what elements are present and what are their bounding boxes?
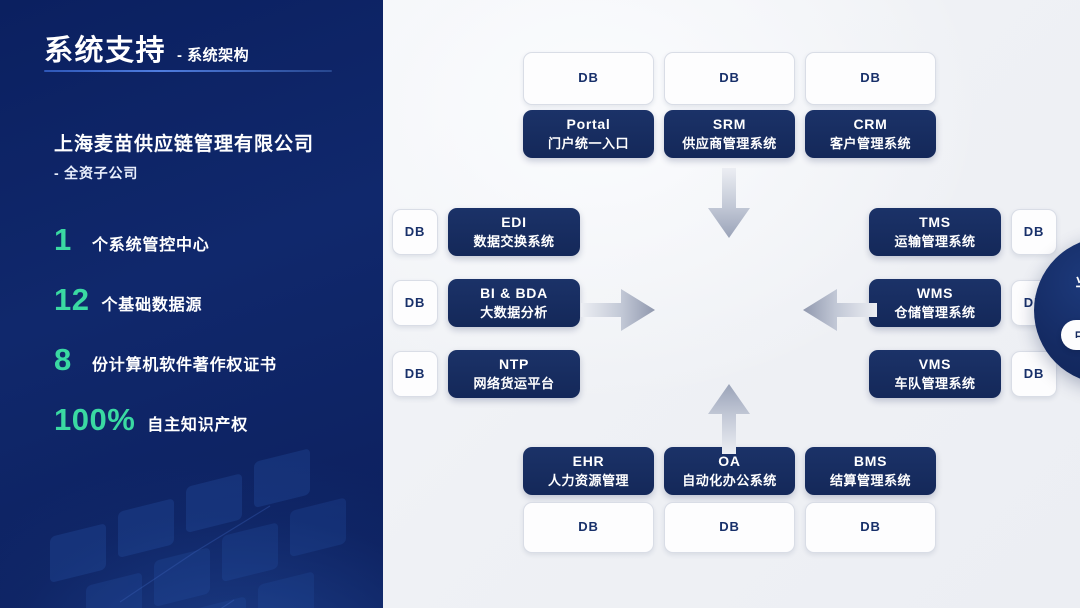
db-card[interactable]: DB [664, 52, 795, 105]
system-card-edi[interactable]: EDI 数据交换系统 [448, 208, 580, 256]
db-card-label: DB [578, 70, 598, 87]
system-card-tms[interactable]: TMS 运输管理系统 [869, 208, 1001, 256]
db-card-label: DB [1024, 366, 1044, 383]
stat-number: 8 [54, 342, 80, 378]
list-item: 8 份计算机软件著作权证书 [54, 342, 354, 402]
stat-label: 份计算机软件著作权证书 [92, 351, 277, 375]
system-card-code: VMS [919, 356, 951, 374]
system-card-name: 运输管理系统 [894, 234, 975, 251]
db-card[interactable]: DB [523, 502, 654, 553]
system-card-name: 门户统一入口 [548, 136, 629, 153]
system-card-vms[interactable]: VMS 车队管理系统 [869, 350, 1001, 398]
db-card-label: DB [405, 295, 425, 312]
db-card[interactable]: DB [1011, 351, 1057, 397]
system-card-bi-bda[interactable]: BI & BDA 大数据分析 [448, 279, 580, 327]
db-card[interactable]: DB [523, 52, 654, 105]
system-card-name: 结算管理系统 [830, 473, 911, 490]
system-card-crm[interactable]: CRM 客户管理系统 [805, 110, 936, 158]
system-card-code: TMS [919, 214, 951, 232]
system-card-code: BMS [854, 453, 887, 471]
db-card[interactable]: DB [1011, 209, 1057, 255]
company-subsidiary-note: - 全资子公司 [54, 163, 138, 183]
system-card-name: 数据交换系统 [473, 234, 554, 251]
system-card-ntp[interactable]: NTP 网络货运平台 [448, 350, 580, 398]
hub-title: 业务支持 中心 [1075, 272, 1080, 311]
company-name: 上海麦苗供应链管理有限公司 [54, 129, 314, 156]
db-card[interactable]: DB [392, 351, 438, 397]
system-card-name: 网络货运平台 [473, 376, 554, 393]
db-card-label: DB [405, 224, 425, 241]
db-card-label: DB [578, 519, 598, 536]
system-card-name: 自动化办公系统 [682, 473, 777, 490]
db-card-label: DB [719, 519, 739, 536]
db-card-label: DB [719, 70, 739, 87]
stat-label: 个系统管控中心 [92, 231, 210, 255]
stat-number: 100% [54, 402, 135, 438]
system-card-code: EHR [573, 453, 605, 471]
system-card-ehr[interactable]: EHR 人力资源管理 [523, 447, 654, 495]
system-card-code: NTP [499, 356, 529, 374]
db-card[interactable]: DB [664, 502, 795, 553]
arrow-left-icon [801, 287, 877, 333]
system-card-code: Portal [567, 116, 611, 134]
architecture-diagram: DB DB DB Portal 门户统一入口 SRM 供应商管理系统 CRM 客… [383, 0, 1080, 608]
left-info-panel: 系统支持 - 系统架构 上海麦苗供应链管理有限公司 - 全资子公司 1 个系统管… [0, 0, 383, 608]
slide-canvas: 系统支持 - 系统架构 上海麦苗供应链管理有限公司 - 全资子公司 1 个系统管… [0, 0, 1080, 608]
db-card[interactable]: DB [805, 502, 936, 553]
system-card-name: 人力资源管理 [548, 473, 629, 490]
stat-number: 12 [54, 282, 89, 318]
stat-label: 自主知识产权 [147, 411, 248, 435]
system-card-portal[interactable]: Portal 门户统一入口 [523, 110, 654, 158]
panel-header: 系统支持 - 系统架构 [44, 27, 249, 69]
arrow-down-icon [706, 168, 752, 240]
title-divider [44, 70, 332, 72]
stat-label: 个基础数据源 [101, 291, 202, 315]
page-title: 系统支持 [44, 27, 166, 69]
arrow-right-icon [581, 287, 657, 333]
arrow-up-icon [706, 382, 752, 454]
stat-number: 1 [54, 222, 80, 258]
system-card-code: SRM [713, 116, 746, 134]
system-card-oa[interactable]: OA 自动化办公系统 [664, 447, 795, 495]
system-card-code: CRM [854, 116, 888, 134]
system-card-name: 仓储管理系统 [894, 305, 975, 322]
db-card[interactable]: DB [392, 209, 438, 255]
page-subtitle: - 系统架构 [177, 44, 249, 65]
list-item: 1 个系统管控中心 [54, 222, 354, 282]
list-item: 12 个基础数据源 [54, 282, 354, 342]
system-card-wms[interactable]: WMS 仓储管理系统 [869, 279, 1001, 327]
system-card-srm[interactable]: SRM 供应商管理系统 [664, 110, 795, 158]
db-card-label: DB [860, 519, 880, 536]
system-card-name: 车队管理系统 [894, 376, 975, 393]
db-card-label: DB [405, 366, 425, 383]
db-card-label: DB [860, 70, 880, 87]
db-card[interactable]: DB [805, 52, 936, 105]
system-card-name: 客户管理系统 [830, 136, 911, 153]
system-card-name: 大数据分析 [480, 305, 548, 322]
system-card-code: OA [718, 453, 740, 471]
system-card-name: 供应商管理系统 [682, 136, 777, 153]
system-card-code: WMS [917, 285, 953, 303]
system-card-bms[interactable]: BMS 结算管理系统 [805, 447, 936, 495]
system-card-code: BI & BDA [480, 285, 548, 303]
system-card-code: EDI [501, 214, 526, 232]
stats-list: 1 个系统管控中心 12 个基础数据源 8 份计算机软件著作权证书 100% 自… [54, 222, 354, 462]
list-item: 100% 自主知识产权 [54, 402, 354, 462]
db-card-label: DB [1024, 224, 1044, 241]
hub-database-pill[interactable]: 中心数据库 [1061, 320, 1080, 350]
db-card[interactable]: DB [392, 280, 438, 326]
